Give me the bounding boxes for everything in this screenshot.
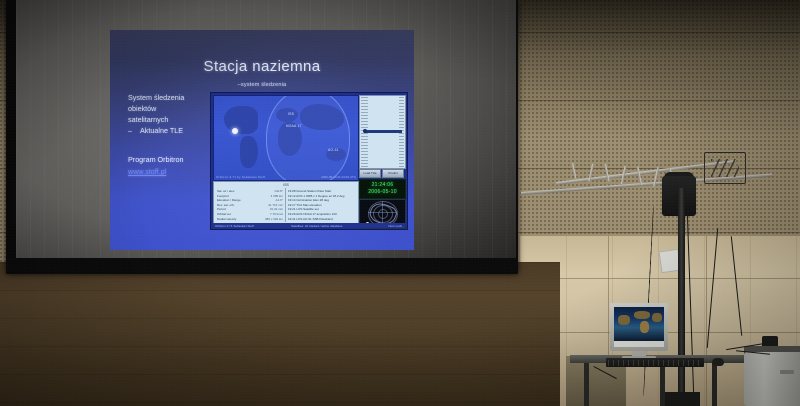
desk-leg [584, 363, 589, 406]
table-right-column: 19:08 Ground Station Pass Start 19:12 AO… [288, 189, 354, 221]
event-row: 19:31 LOS AO-51 SSB Passband [288, 217, 354, 222]
mast-base [664, 392, 700, 406]
mouse[interactable] [712, 358, 724, 366]
satellite-label: NOAA 17 [286, 124, 302, 128]
row-value: 380 x 392 km [265, 217, 283, 222]
row-key: Radial velocity [217, 217, 236, 222]
sub-bullet-row: –Aktualne TLE [128, 125, 212, 136]
chart-button-row: Load TLE Predict [359, 169, 404, 176]
table-divider [285, 188, 286, 222]
bullet-line-3: satelitarnych [128, 114, 212, 125]
map-landmass [652, 313, 662, 322]
table-row: Radial velocity380 x 392 km [217, 217, 283, 222]
chart-horizon-line [364, 130, 402, 133]
dark-wood-wainscot [0, 262, 560, 406]
app-status-bar: Orbitron 3.71 Sebastian Stoff Satellites… [213, 223, 405, 228]
map-footer-right: 2006-05-10 21:24:06 UTC [321, 175, 356, 179]
clock-time: 21:24:06 [360, 182, 405, 188]
utc-clock-panel: 21:24:06 2006-05-10 [359, 179, 406, 199]
elevation-chart-panel [359, 95, 406, 169]
panel-seam [520, 278, 800, 279]
satellite-label: ISS [288, 112, 294, 116]
helical-antenna [704, 152, 746, 184]
map-footer-left: Orbitron 3.71 by Sebastian Stoff [216, 175, 265, 179]
map-landmass [640, 321, 649, 333]
slide-title: Stacja naziemna [110, 58, 414, 75]
slide-subtitle: –system śledzenia [110, 82, 414, 88]
chart-marker [363, 129, 367, 133]
projected-slide: Stacja naziemna –system śledzenia System… [110, 30, 414, 250]
monitor-screen [614, 307, 664, 341]
sub-bullet-label: Aktualne TLE [140, 126, 183, 135]
bullet-line-2: obiektów [128, 103, 212, 114]
sub-bullet-dash: – [128, 125, 140, 136]
tower-badge [780, 370, 794, 374]
helix-coil [711, 159, 739, 177]
continent-south-america [240, 136, 258, 168]
predict-button[interactable]: Predict [382, 169, 404, 178]
load-tle-button[interactable]: Load TLE [359, 169, 381, 178]
satellite-position-marker [232, 128, 238, 134]
slide-bullet-list: System śledzenia obiektów satelitarnych … [128, 92, 212, 136]
antenna-mast [678, 188, 685, 406]
table-title: ISS [214, 183, 358, 187]
screen-bottom-bar [6, 258, 518, 274]
table-left-column: Sat. az / elev.142.8° Footprint4 385 km … [217, 189, 283, 221]
monitor [610, 303, 668, 351]
panel-seam [706, 236, 707, 406]
pc-tower [744, 352, 800, 406]
map-landmass [618, 315, 630, 325]
status-left: Orbitron 3.71 Sebastian Stoff [215, 224, 254, 228]
desk-leg [660, 363, 665, 406]
satellite-label: AO-51 [328, 148, 339, 152]
status-center: Satellites: 24 tracked / active database [291, 224, 342, 228]
orbitron-app-screenshot: ISS NOAA 17 AO-51 Orbitron 3.71 by Sebas… [210, 92, 408, 230]
lecture-hall-photo: Stacja naziemna –system śledzenia System… [0, 0, 800, 406]
clock-date: 2006-05-10 [360, 189, 405, 195]
map-landmass [634, 311, 650, 319]
monitor-status-strip [614, 341, 664, 347]
satellite-footprint-circle [266, 95, 350, 181]
world-tracking-map: ISS NOAA 17 AO-51 Orbitron 3.71 by Sebas… [213, 95, 359, 181]
keyboard[interactable] [606, 358, 704, 367]
satellite-data-table: ISS Sat. az / elev.142.8° Footprint4 385… [213, 181, 359, 225]
bullet-line-1: System śledzenia [128, 92, 212, 103]
desk-leg [712, 363, 717, 406]
continent-north-america [224, 106, 258, 134]
status-right: Num Lock [388, 224, 402, 228]
